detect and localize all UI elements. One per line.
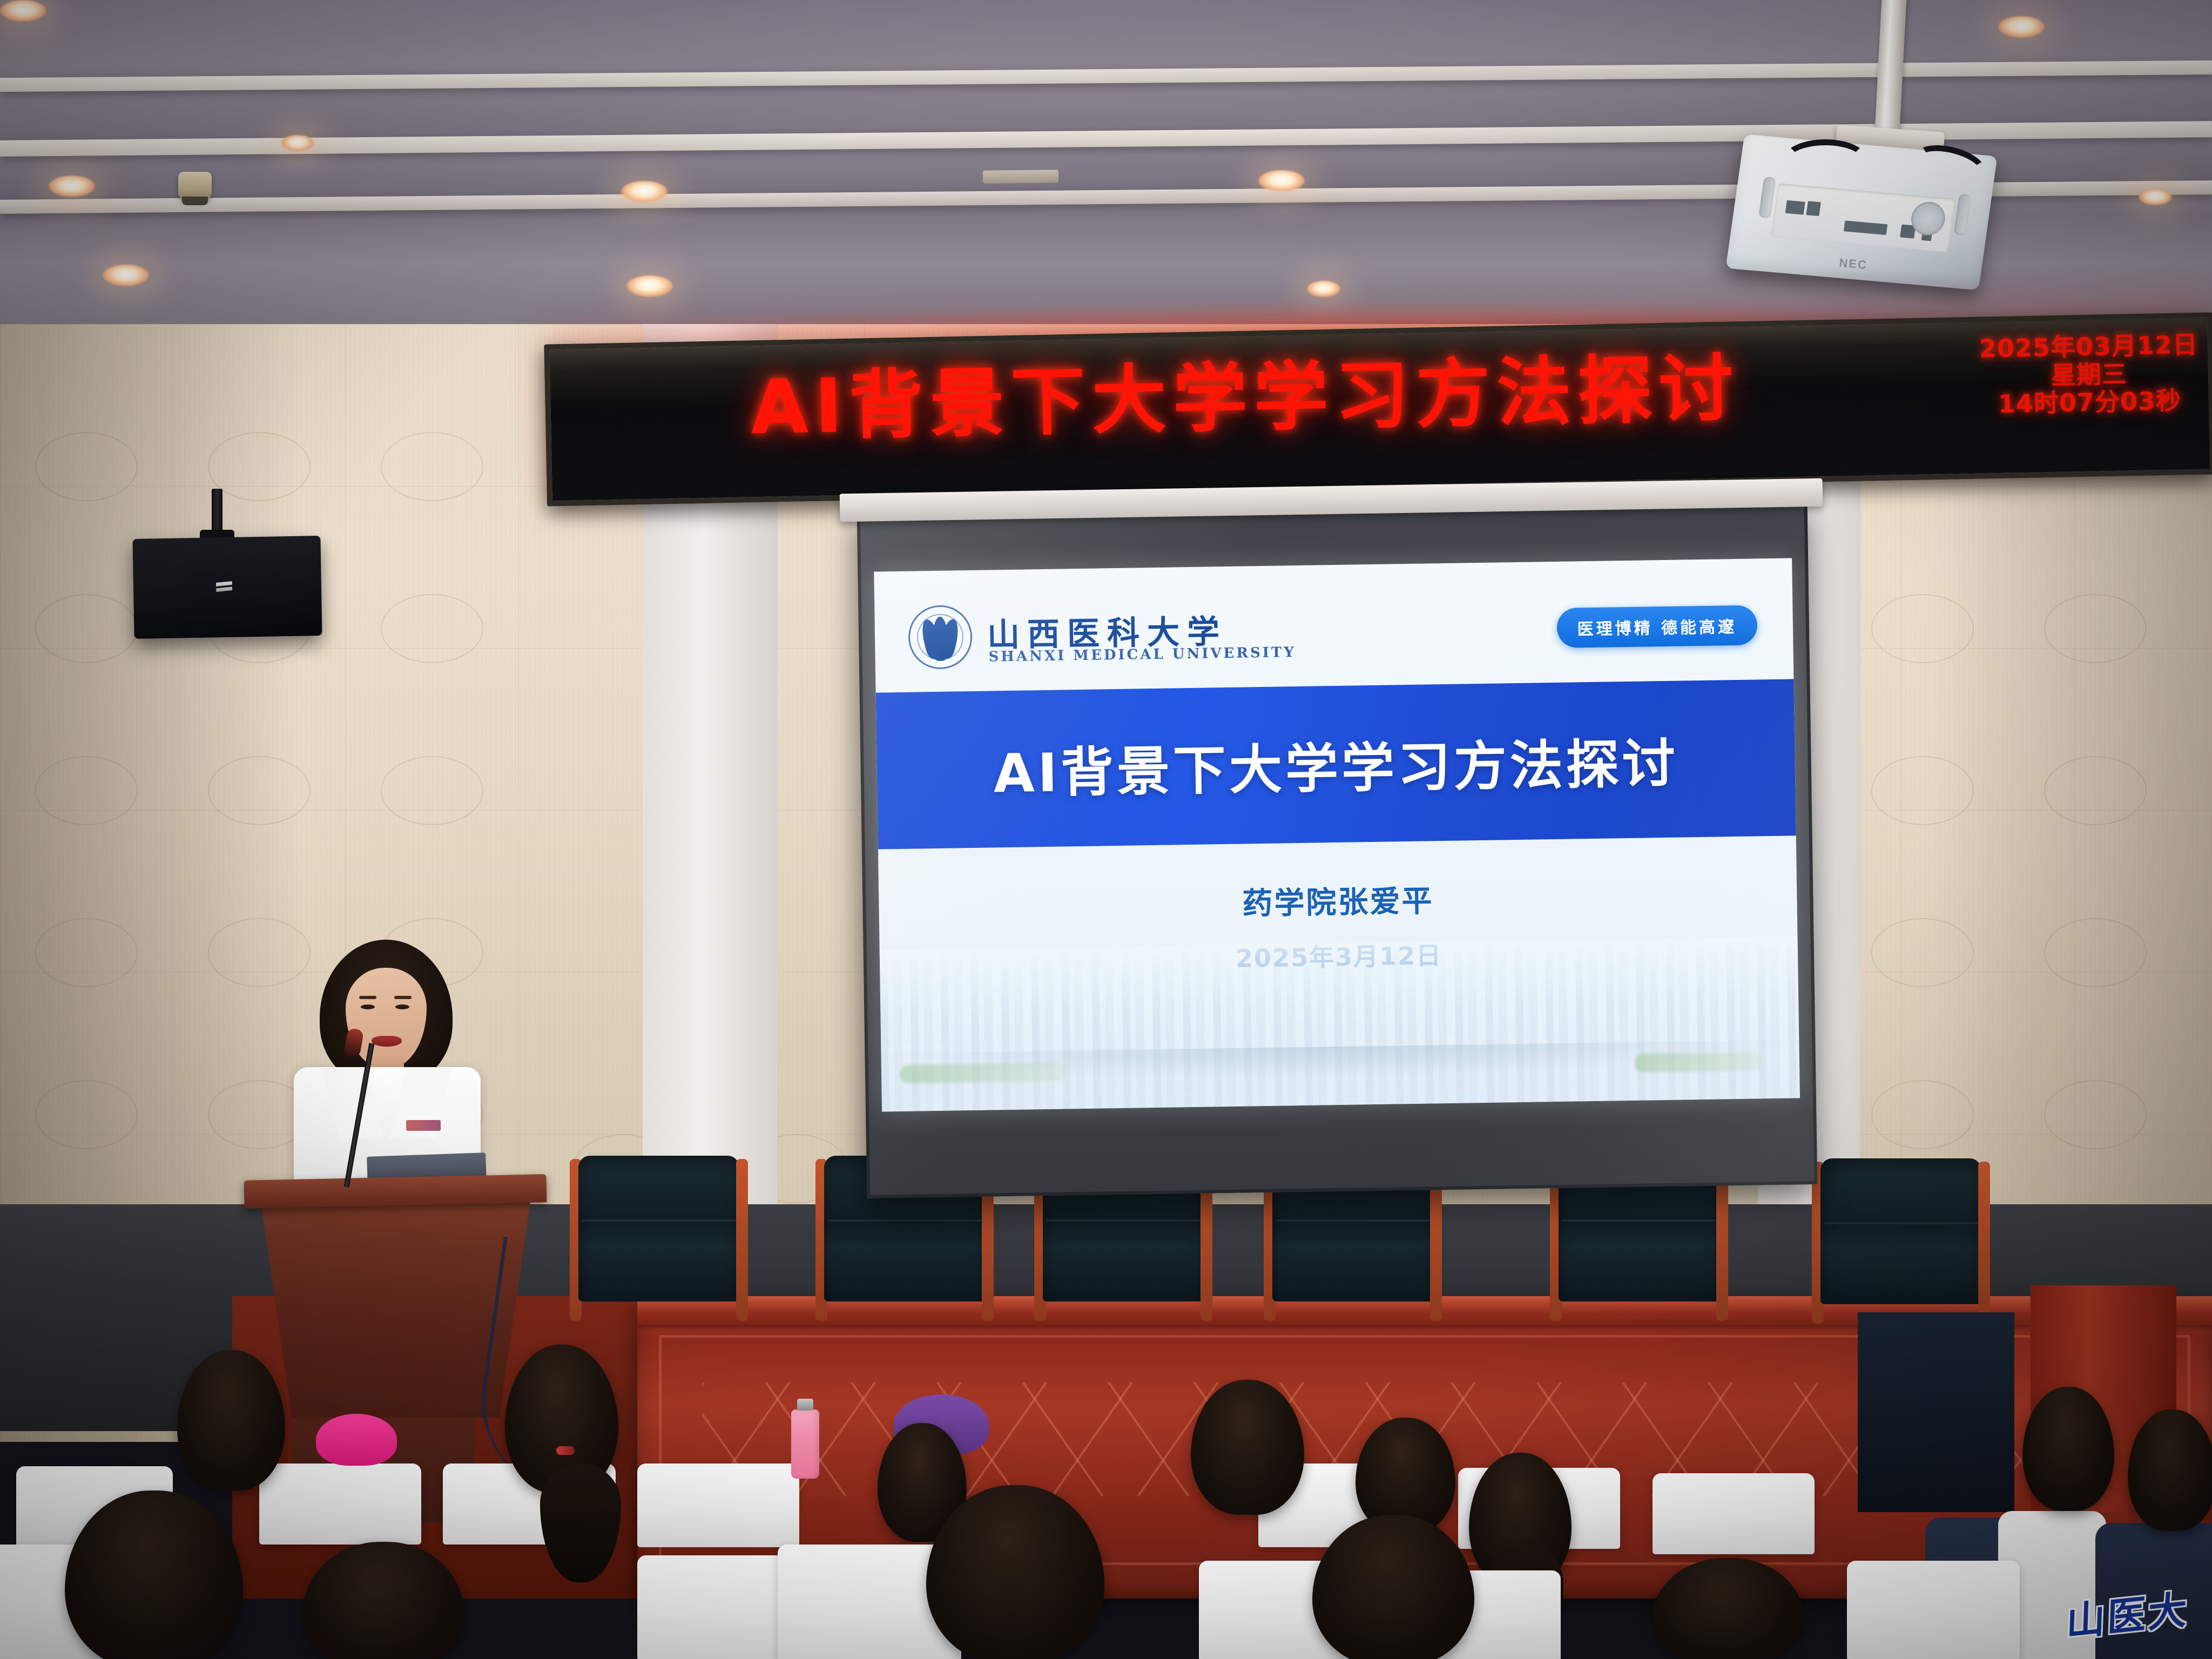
ceiling-downlight (1307, 281, 1340, 297)
led-banner: AI背景下大学学习方法探讨 2025年03月12日 星期三 14时07分03秒 (544, 312, 2212, 506)
slide-title-band: AI背景下大学学习方法探讨 (876, 679, 1796, 849)
audience-head (2022, 1387, 2114, 1511)
ceiling-downlight (103, 265, 149, 286)
projection-screen: 山西医科大学 SHANXI MEDICAL UNIVERSITY 医理博精 德能… (857, 500, 1818, 1198)
projector-port (1844, 220, 1867, 233)
smoke-detector (178, 172, 212, 201)
audience-area (0, 1328, 2212, 1659)
projector-port (1785, 200, 1805, 215)
slide-campus-background (880, 936, 1800, 1111)
audience-head (177, 1350, 285, 1491)
audience-ponytail (540, 1464, 621, 1582)
ceiling-downlight (2139, 189, 2172, 205)
audience-head (302, 1542, 464, 1659)
ceiling-downlight (281, 135, 314, 151)
ceiling-downlight (621, 181, 667, 203)
projector-vent (1758, 177, 1776, 218)
presenter-name-badge (406, 1120, 441, 1131)
ceiling-downlight (626, 275, 673, 297)
projector-brand-label: NEC (1838, 256, 1868, 272)
led-clock-time: 14时07分03秒 (1980, 387, 2199, 419)
conference-chair (570, 1156, 748, 1323)
seat-cover (1653, 1473, 1815, 1554)
audience-head (1653, 1558, 1804, 1659)
slide-greenery (900, 1063, 1065, 1084)
speaker-mount-arm (212, 489, 222, 543)
projector-cable (1782, 139, 1869, 183)
slide-header: 山西医科大学 SHANXI MEDICAL UNIVERSITY 医理博精 德能… (874, 558, 1793, 692)
university-emblem-icon (908, 605, 973, 670)
audience-pink-cap (316, 1414, 397, 1466)
led-banner-clock: 2025年03月12日 星期三 14时07分03秒 (1979, 331, 2200, 419)
drink-bottle (791, 1410, 819, 1479)
audience-head (1191, 1380, 1304, 1515)
seat-cover (1847, 1561, 2020, 1659)
seat-cover (259, 1464, 421, 1545)
presentation-slide: 山西医科大学 SHANXI MEDICAL UNIVERSITY 医理博精 德能… (874, 558, 1800, 1111)
led-clock-date: 2025年03月12日 (1979, 331, 2198, 363)
ceiling-downlight (0, 0, 46, 22)
projector-port (1806, 201, 1822, 216)
projector-vent (1954, 194, 1972, 235)
ceiling-vent (983, 170, 1058, 183)
photo-scene: NEC (0, 0, 2212, 1659)
seat-cover (637, 1464, 799, 1547)
ceiling-downlight (49, 176, 95, 197)
wall-speaker (132, 536, 322, 639)
slide-title: AI背景下大学学习方法探讨 (993, 721, 1679, 808)
projector-port (1865, 222, 1888, 235)
university-motto-badge: 医理博精 德能高邃 (1556, 605, 1758, 648)
audience-head (2128, 1410, 2212, 1531)
hair-tie (556, 1446, 575, 1455)
led-banner-headline: AI背景下大学学习方法探讨 (750, 352, 1740, 445)
ceiling-downlight (1998, 16, 2045, 38)
ceiling-downlight (1258, 170, 1305, 192)
slide-greenery (1634, 1052, 1763, 1073)
slide-presenter: 药学院张爱平 (879, 871, 1797, 928)
conference-chair (1812, 1158, 1990, 1326)
